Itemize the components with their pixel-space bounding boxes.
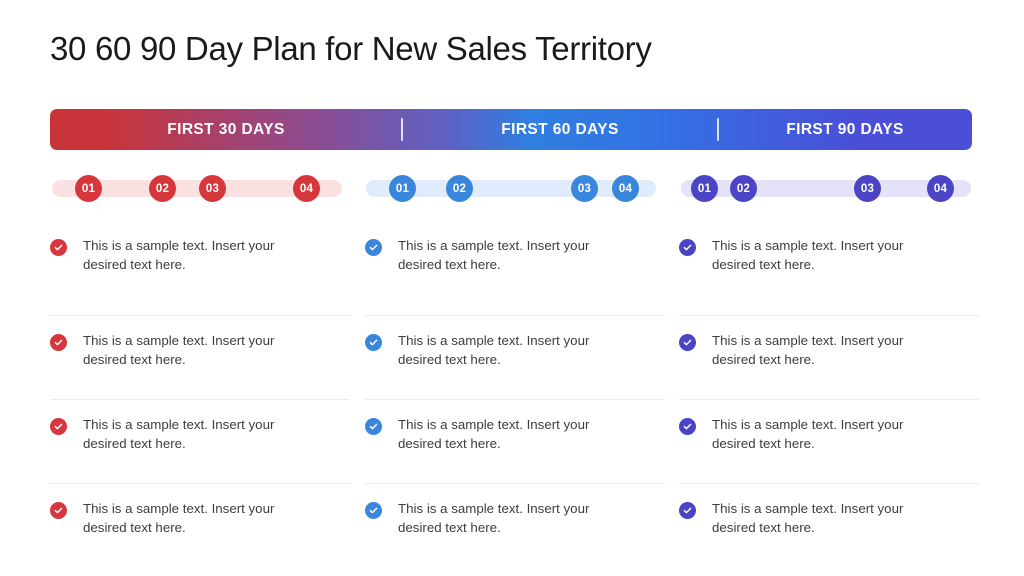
phase-header-first-60-days[interactable]: FIRST 60 DAYS: [402, 109, 718, 150]
check-circle-icon: [365, 239, 382, 256]
list-item[interactable]: This is a sample text. Insert your desir…: [679, 399, 979, 483]
check-circle-icon: [50, 418, 67, 435]
list-item[interactable]: This is a sample text. Insert your desir…: [365, 399, 665, 483]
content-column-first-90-days: This is a sample text. Insert your desir…: [679, 231, 979, 567]
content-column-first-30-days: This is a sample text. Insert your desir…: [50, 231, 350, 567]
list-item[interactable]: This is a sample text. Insert your desir…: [679, 483, 979, 567]
step-badge[interactable]: 03: [199, 175, 226, 202]
list-item[interactable]: This is a sample text. Insert your desir…: [50, 399, 350, 483]
list-item[interactable]: This is a sample text. Insert your desir…: [679, 315, 979, 399]
check-circle-icon: [365, 334, 382, 351]
step-badge[interactable]: 04: [293, 175, 320, 202]
phase-header-bar: FIRST 30 DAYS FIRST 60 DAYS FIRST 90 DAY…: [50, 109, 972, 150]
list-item-text: This is a sample text. Insert your desir…: [83, 331, 295, 369]
step-badge[interactable]: 02: [730, 175, 757, 202]
list-item[interactable]: This is a sample text. Insert your desir…: [365, 315, 665, 399]
list-item[interactable]: This is a sample text. Insert your desir…: [365, 483, 665, 567]
list-item[interactable]: This is a sample text. Insert your desir…: [50, 483, 350, 567]
step-badge[interactable]: 03: [854, 175, 881, 202]
list-item-text: This is a sample text. Insert your desir…: [398, 331, 610, 369]
list-item[interactable]: This is a sample text. Insert your desir…: [50, 315, 350, 399]
list-item-text: This is a sample text. Insert your desir…: [712, 236, 924, 274]
page-title: 30 60 90 Day Plan for New Sales Territor…: [50, 30, 652, 68]
content-column-first-60-days: This is a sample text. Insert your desir…: [365, 231, 665, 567]
phase-header-first-90-days[interactable]: FIRST 90 DAYS: [718, 109, 972, 150]
check-circle-icon: [50, 239, 67, 256]
list-item[interactable]: This is a sample text. Insert your desir…: [679, 231, 979, 315]
check-circle-icon: [365, 418, 382, 435]
list-item[interactable]: This is a sample text. Insert your desir…: [50, 231, 350, 315]
check-circle-icon: [679, 418, 696, 435]
phase-header-first-30-days[interactable]: FIRST 30 DAYS: [50, 109, 402, 150]
list-item-text: This is a sample text. Insert your desir…: [398, 236, 610, 274]
step-badge[interactable]: 02: [149, 175, 176, 202]
check-circle-icon: [679, 239, 696, 256]
header-divider: [717, 118, 719, 141]
list-item-text: This is a sample text. Insert your desir…: [83, 499, 295, 537]
list-item-text: This is a sample text. Insert your desir…: [398, 499, 610, 537]
step-badge[interactable]: 01: [75, 175, 102, 202]
list-item-text: This is a sample text. Insert your desir…: [712, 331, 924, 369]
list-item-text: This is a sample text. Insert your desir…: [83, 236, 295, 274]
phase-header-label: FIRST 60 DAYS: [501, 121, 618, 139]
check-circle-icon: [50, 334, 67, 351]
list-item[interactable]: This is a sample text. Insert your desir…: [365, 231, 665, 315]
step-badge[interactable]: 01: [389, 175, 416, 202]
check-circle-icon: [50, 502, 67, 519]
header-divider: [401, 118, 403, 141]
list-item-text: This is a sample text. Insert your desir…: [83, 415, 295, 453]
phase-header-label: FIRST 90 DAYS: [786, 121, 903, 139]
check-circle-icon: [679, 334, 696, 351]
step-badge[interactable]: 04: [927, 175, 954, 202]
step-badge[interactable]: 04: [612, 175, 639, 202]
check-circle-icon: [365, 502, 382, 519]
step-badge[interactable]: 03: [571, 175, 598, 202]
step-badge[interactable]: 02: [446, 175, 473, 202]
check-circle-icon: [679, 502, 696, 519]
list-item-text: This is a sample text. Insert your desir…: [712, 499, 924, 537]
list-item-text: This is a sample text. Insert your desir…: [398, 415, 610, 453]
list-item-text: This is a sample text. Insert your desir…: [712, 415, 924, 453]
phase-header-label: FIRST 30 DAYS: [167, 121, 284, 139]
step-badge[interactable]: 01: [691, 175, 718, 202]
